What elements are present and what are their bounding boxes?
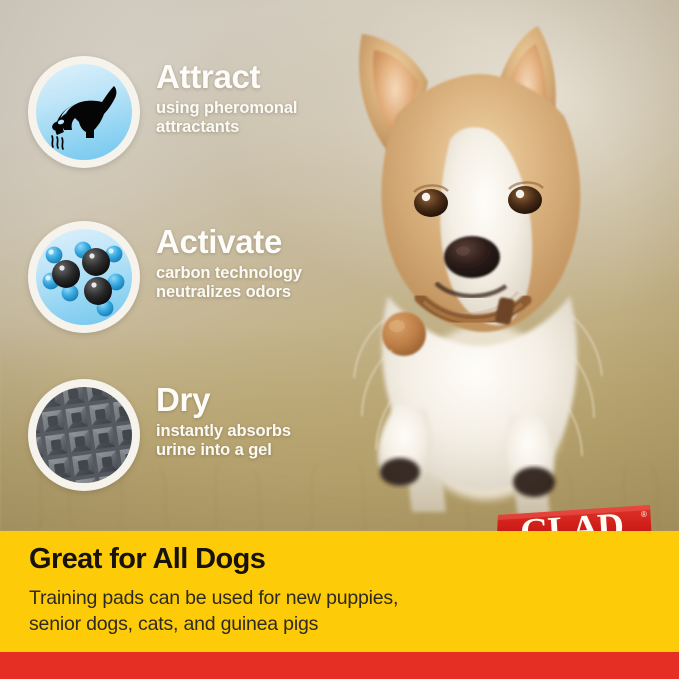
banner-subtext-line1: Training pads can be used for new puppie… <box>29 586 398 612</box>
carbon-molecule-icon <box>36 229 132 325</box>
feature-attract: Attract using pheromonal attractants <box>28 56 331 168</box>
product-advertisement: Attract using pheromonal attractants <box>0 0 679 679</box>
badge-attract <box>28 56 140 168</box>
registered-trademark-symbol: ® <box>641 510 647 519</box>
dog-photo <box>300 20 679 531</box>
feature-title: Attract <box>156 60 331 93</box>
banner-subtext: Training pads can be used for new puppie… <box>29 586 398 638</box>
badge-dry <box>28 379 140 491</box>
feature-dry: Dry instantly absorbs urine into a gel <box>28 379 331 491</box>
bottom-red-bar <box>0 652 679 679</box>
feature-activate: Activate carbon technology neutralizes o… <box>28 221 331 333</box>
feature-title: Activate <box>156 225 331 258</box>
banner-headline: Great for All Dogs <box>29 543 265 576</box>
feature-description: using pheromonal attractants <box>156 99 331 138</box>
badge-activate <box>28 221 140 333</box>
feature-description: instantly absorbs urine into a gel <box>156 422 331 461</box>
feature-description: carbon technology neutralizes odors <box>156 264 331 303</box>
quilted-pad-texture-icon <box>36 387 132 483</box>
banner-subtext-line2: senior dogs, cats, and guinea pigs <box>29 612 398 638</box>
dog-sniffing-icon <box>36 64 132 160</box>
bottom-yellow-banner: Great for All Dogs Training pads can be … <box>0 531 679 652</box>
feature-title: Dry <box>156 383 331 416</box>
